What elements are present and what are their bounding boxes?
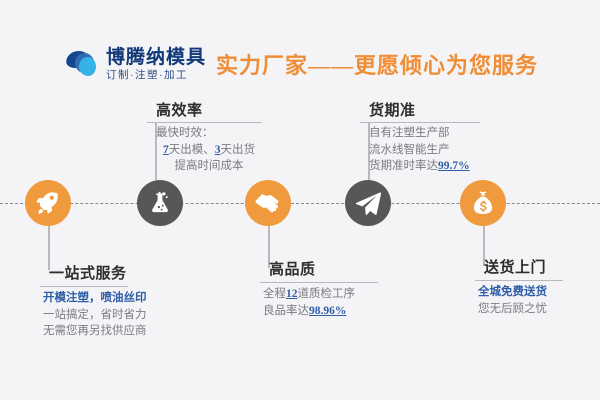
callout-line-3: 提高时间成本 xyxy=(156,158,262,175)
callout-door-delivery: 送货上门 全城免费送货 您无后顾之忧 xyxy=(475,256,563,317)
paper-plane-icon xyxy=(355,190,382,217)
callout-body: 最快时效： 7天出模、3天出货 提高时间成本 xyxy=(147,123,262,175)
node-rocket[interactable] xyxy=(25,180,71,226)
node-money-bag[interactable] xyxy=(460,180,506,226)
callout-on-time-delivery: 货期准 自有注塑生产部 流水线智能生产 货期准时率达99.7% xyxy=(360,99,480,175)
callout-title: 送货上门 xyxy=(475,256,563,277)
flask-icon xyxy=(147,190,173,216)
callout-title: 高品质 xyxy=(260,258,378,279)
brand-logo: 博腾纳模具 订制·注塑·加工 xyxy=(66,48,206,81)
callout-title: 货期准 xyxy=(360,99,480,120)
callout-body: 全城免费送货 您无后顾之忧 xyxy=(475,281,563,317)
callout-body: 全程12道质检工序 良品率达98.96% xyxy=(260,283,378,319)
callout-line-2: 7天出模、3天出货 xyxy=(156,142,262,159)
rocket-icon xyxy=(35,190,61,216)
callout-one-stop-service: 一站式服务 开模注塑，喷油丝印 一站搞定，省时省力 无需您再另找供应商 xyxy=(40,262,147,340)
infographic-canvas: 博腾纳模具 订制·注塑·加工 实力厂家——更愿倾心为您服务 xyxy=(0,0,600,400)
callout-line-2: 您无后顾之忧 xyxy=(478,303,547,315)
callout-line-2: 一站搞定，省时省力 xyxy=(43,309,147,321)
callout-title: 一站式服务 xyxy=(40,262,147,283)
callout-line-1: 最快时效： xyxy=(156,127,214,139)
callout-line-3: 货期准时率达99.7% xyxy=(369,160,470,172)
callout-line-1: 全城免费送货 xyxy=(478,286,547,298)
brand-name: 博腾纳模具 xyxy=(106,48,206,67)
callout-line-1: 开模注塑，喷油丝印 xyxy=(43,292,147,304)
cloud-blob-logo-icon xyxy=(66,49,100,79)
callout-high-quality: 高品质 全程12道质检工序 良品率达98.96% xyxy=(260,258,378,319)
brand-tagline: 订制·注塑·加工 xyxy=(106,70,206,81)
node-flask[interactable] xyxy=(137,180,183,226)
node-paper-plane[interactable] xyxy=(345,180,391,226)
callout-high-efficiency: 高效率 最快时效： 7天出模、3天出货 提高时间成本 xyxy=(147,99,262,175)
callout-line-1: 全程12道质检工序 xyxy=(263,288,355,300)
callout-line-2: 流水线智能生产 xyxy=(369,144,450,156)
callout-body: 自有注塑生产部 流水线智能生产 货期准时率达99.7% xyxy=(360,123,480,175)
callout-body: 开模注塑，喷油丝印 一站搞定，省时省力 无需您再另找供应商 xyxy=(40,287,147,340)
callout-line-3: 无需您再另找供应商 xyxy=(43,325,147,337)
timeline-axis xyxy=(0,203,600,204)
page-title: 实力厂家——更愿倾心为您服务 xyxy=(216,48,538,80)
brand-text: 博腾纳模具 订制·注塑·加工 xyxy=(106,48,206,81)
callout-line-2: 良品率达98.96% xyxy=(263,305,346,317)
callout-line-1: 自有注塑生产部 xyxy=(369,127,450,139)
node-handshake[interactable] xyxy=(245,180,291,226)
handshake-icon xyxy=(254,189,282,217)
callout-title: 高效率 xyxy=(147,99,262,120)
money-bag-icon xyxy=(470,190,496,216)
